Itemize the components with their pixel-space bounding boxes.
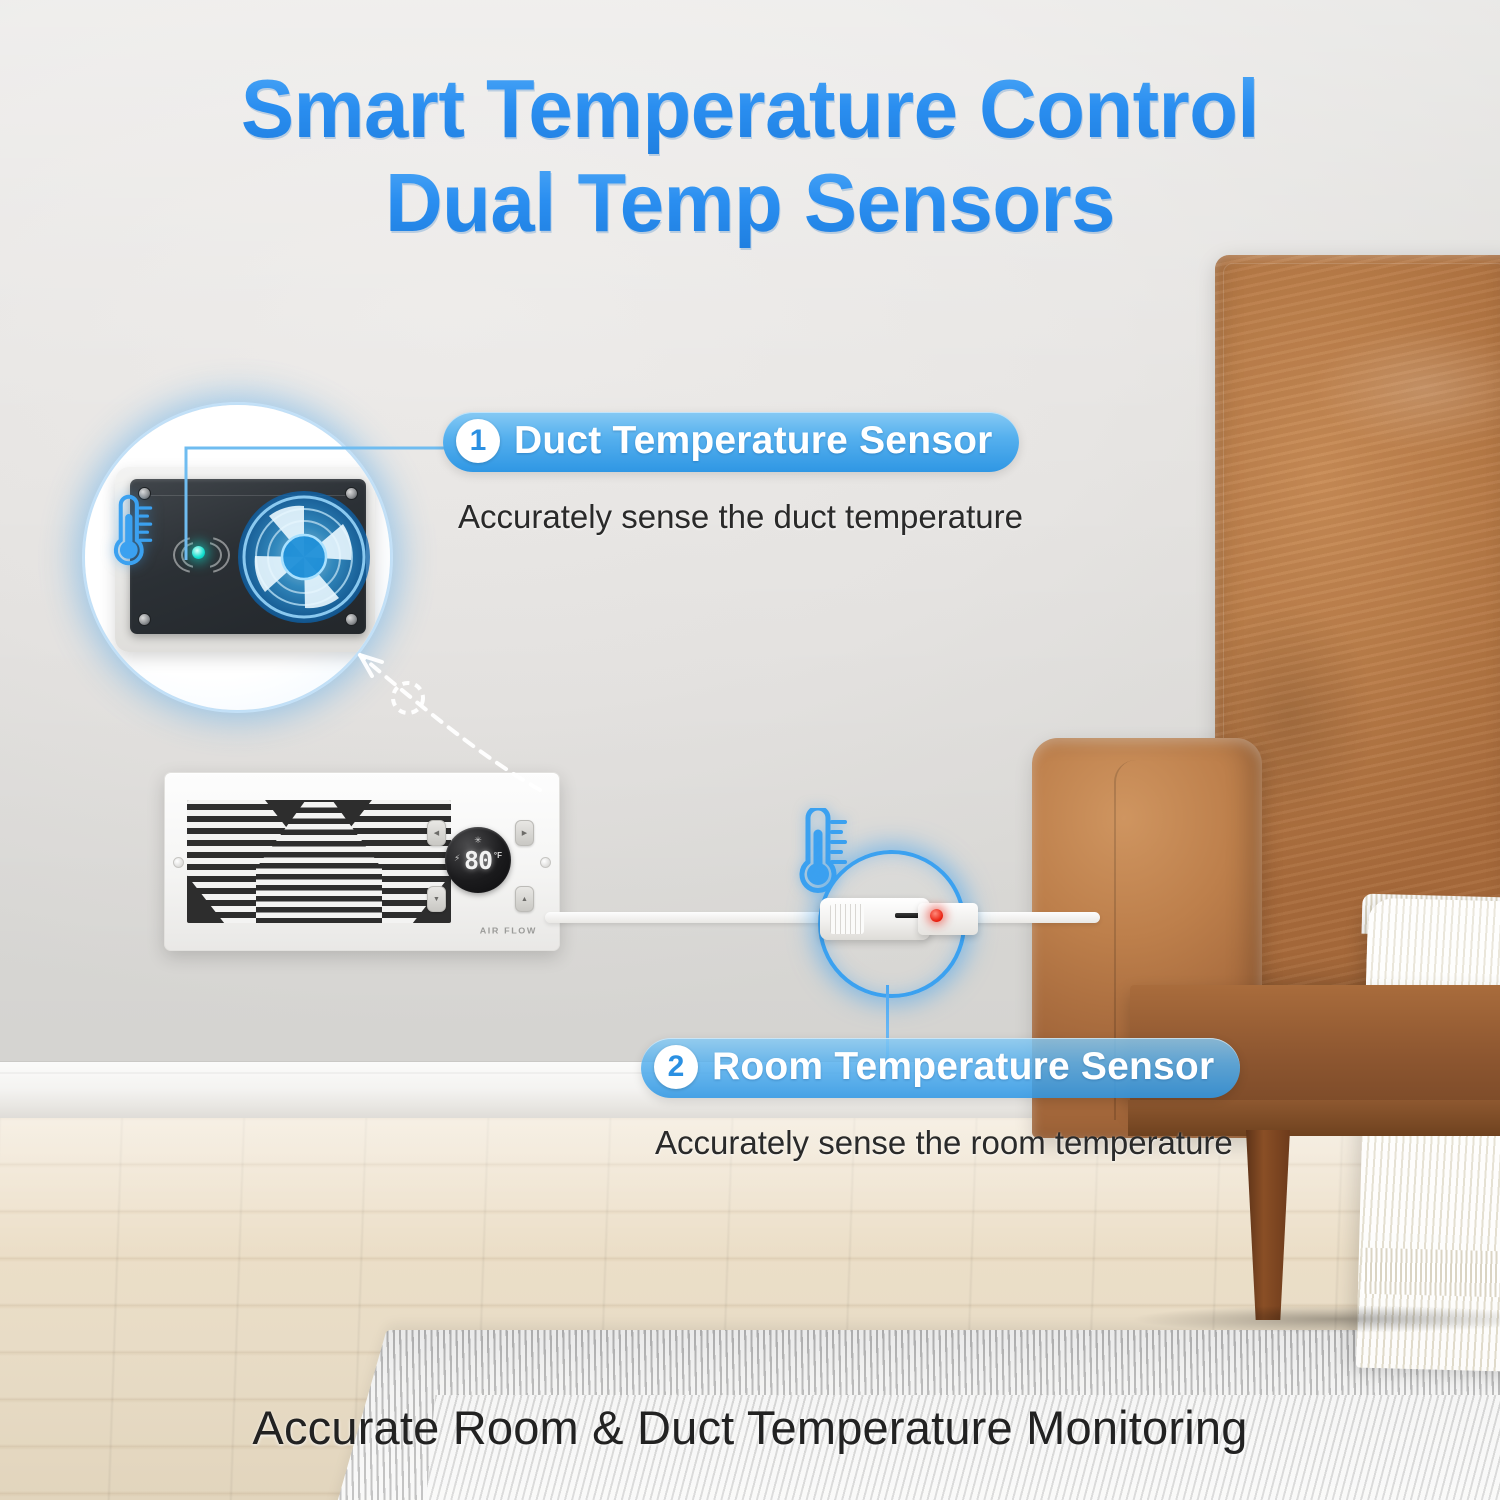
- sofa-floor-shadow: [1130, 1305, 1500, 1333]
- sensor-plug: [918, 903, 978, 935]
- sensor-dot-icon: [192, 546, 205, 559]
- callout-label-1: Duct Temperature Sensor: [514, 419, 993, 463]
- button-up[interactable]: ▲: [515, 886, 534, 912]
- sensor-cable-left: [545, 912, 835, 923]
- room-sensor-module[interactable]: [820, 898, 930, 940]
- vent-screw-left: [173, 857, 184, 868]
- callout-number-1: 1: [456, 419, 500, 463]
- infographic-stage: ✳ ⚡ 80 °F ◀ ▶ ▼ ▲ AIR FLOW: [0, 0, 1500, 1500]
- button-top-left[interactable]: ◀: [427, 820, 446, 846]
- smart-vent-register[interactable]: ✳ ⚡ 80 °F ◀ ▶ ▼ ▲ AIR FLOW: [164, 772, 560, 951]
- callout-badge-1[interactable]: 1 Duct Temperature Sensor: [443, 412, 1019, 472]
- callout-label-2: Room Temperature Sensor: [712, 1045, 1214, 1089]
- callout-description-2: Accurately sense the room temperature: [655, 1124, 1233, 1162]
- fan-icon: ✳: [474, 836, 482, 845]
- thermometer-icon-duct: [103, 493, 153, 573]
- display-temperature-value: 80: [464, 846, 492, 875]
- inset-screw-bl: [138, 613, 151, 626]
- temperature-display[interactable]: ✳ ⚡ 80 °F: [445, 827, 511, 893]
- button-down[interactable]: ▼: [427, 886, 446, 912]
- throw-blanket-fringe-bottom: [1361, 1248, 1500, 1299]
- title-line-1: Smart Temperature Control: [30, 62, 1470, 156]
- callout-number-2: 2: [654, 1045, 698, 1089]
- callout-description-1: Accurately sense the duct temperature: [458, 498, 1023, 536]
- bolt-icon: ⚡: [454, 853, 460, 864]
- glowing-fan-icon: [235, 488, 373, 626]
- airflow-label: AIR FLOW: [480, 927, 537, 936]
- button-top-right[interactable]: ▶: [515, 820, 534, 846]
- display-unit-label: °F: [494, 851, 502, 860]
- page-title: Smart Temperature Control Dual Temp Sens…: [30, 62, 1470, 250]
- vent-screw-right: [540, 857, 551, 868]
- vent-grille: [187, 800, 451, 923]
- led-indicator-icon: [930, 909, 943, 922]
- footer-caption: Accurate Room & Duct Temperature Monitor…: [0, 1400, 1500, 1455]
- sensor-cable-right: [960, 912, 1100, 923]
- leather-sofa: [1010, 250, 1500, 1260]
- duct-sensor-closeup-inset: [85, 405, 390, 710]
- callout-badge-2[interactable]: 2 Room Temperature Sensor: [641, 1038, 1240, 1098]
- title-line-2: Dual Temp Sensors: [30, 156, 1470, 250]
